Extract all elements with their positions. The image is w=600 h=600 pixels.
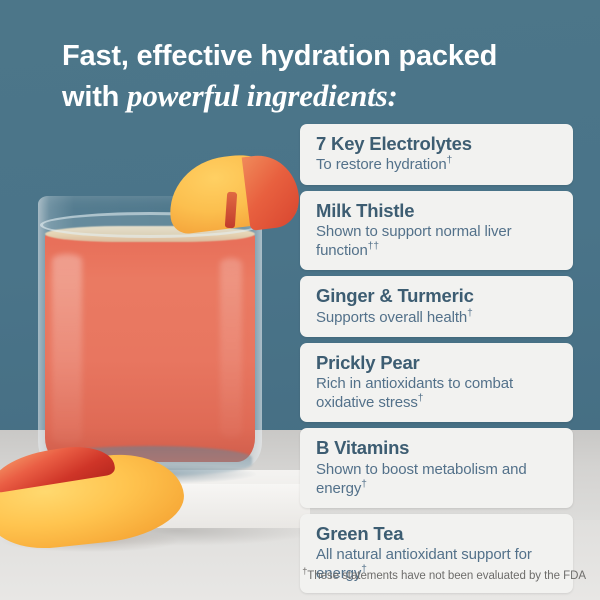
ingredient-title: Ginger & Turmeric [316,285,559,306]
page-headline: Fast, effective hydration packed with po… [62,38,562,116]
headline-line-1: Fast, effective hydration packed [62,40,497,72]
ingredient-card[interactable]: Milk Thistle Shown to support normal liv… [300,191,573,271]
ingredient-title: Milk Thistle [316,200,559,221]
ingredient-dagger: † [467,308,473,319]
ingredient-description: Rich in antioxidants to combat oxidative… [316,374,559,412]
ingredient-title: 7 Key Electrolytes [316,133,559,154]
ingredient-dagger: † [361,479,367,490]
fda-disclaimer: †These statements have not been evaluate… [0,566,586,582]
ingredient-dagger: † [447,155,453,166]
ingredient-dagger: †† [368,241,379,252]
headline-line-2-plain: with [62,81,127,113]
ingredient-dagger: † [418,393,424,404]
ingredient-title: Green Tea [316,523,559,544]
ingredient-card[interactable]: B Vitamins Shown to boost metabolism and… [300,428,573,508]
ingredient-description-text: Rich in antioxidants to combat oxidative… [316,375,513,411]
ingredient-description: Shown to support normal liver function†† [316,222,559,260]
ingredient-card[interactable]: 7 Key Electrolytes To restore hydration† [300,124,573,185]
peach-slice [0,444,188,550]
ingredient-description: Shown to boost metabolism and energy† [316,460,559,498]
peach-wedge-garnish [168,148,300,234]
glass-of-juice [38,196,262,480]
disclaimer-text: These statements have not been evaluated… [307,570,586,582]
ingredient-description-text: Supports overall health [316,309,467,326]
headline-line-2-emphasis: powerful ingredients: [127,78,398,113]
glass-highlight-left [52,254,82,444]
ingredient-description-text: Shown to boost metabolism and energy [316,461,527,497]
garnish-skin [242,151,303,231]
ingredient-card[interactable]: Ginger & Turmeric Supports overall healt… [300,276,573,337]
ingredient-card[interactable]: Prickly Pear Rich in antioxidants to com… [300,343,573,423]
ingredient-description-text: Shown to support normal liver function [316,223,512,259]
ingredient-description-text: To restore hydration [316,156,447,173]
ingredient-title: Prickly Pear [316,352,559,373]
glass-highlight-right [220,258,242,438]
ingredient-title: B Vitamins [316,437,559,458]
ingredient-description: Supports overall health† [316,308,559,327]
ingredient-card-list: 7 Key Electrolytes To restore hydration†… [300,124,573,593]
ingredient-description: To restore hydration† [316,155,559,174]
